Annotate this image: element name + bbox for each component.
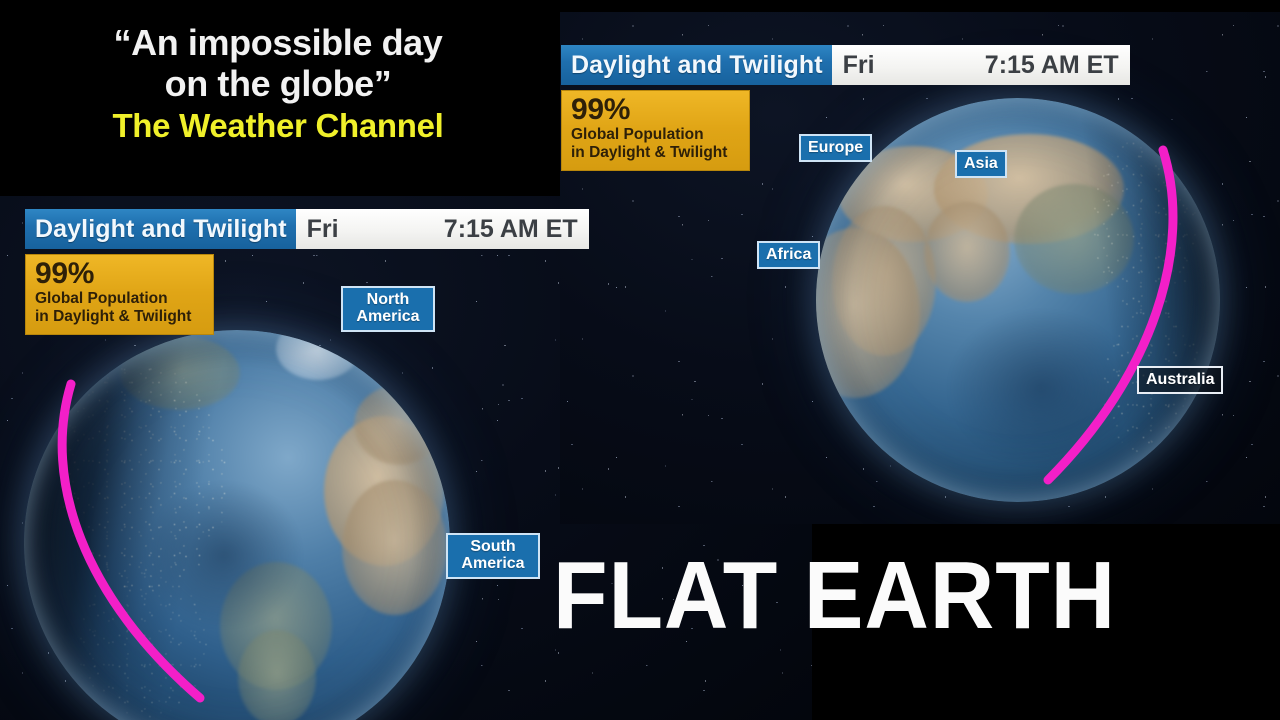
- banner-bottom-title: Daylight and Twilight: [25, 209, 296, 249]
- quote-line-1: “An impossible day: [0, 22, 556, 63]
- banner-top-day: Fri: [843, 51, 875, 80]
- globe-left: [24, 330, 450, 720]
- banner-top-stat-line2: in Daylight & Twilight: [571, 144, 741, 163]
- map-label-australia[interactable]: Australia: [1137, 366, 1223, 394]
- banner-bottom-timebox: Fri 7:15 AM ET: [296, 209, 589, 249]
- screenshot-frame: North America South America Europe Asia …: [0, 0, 1280, 720]
- banner-bottom-bar: Daylight and Twilight Fri 7:15 AM ET: [25, 209, 589, 249]
- weather-banner-bottom: Daylight and Twilight Fri 7:15 AM ET 99%…: [25, 209, 589, 335]
- banner-bottom-stat-line2: in Daylight & Twilight: [35, 308, 205, 327]
- quote-line-2: on the globe”: [0, 63, 556, 104]
- banner-top-title: Daylight and Twilight: [561, 45, 832, 85]
- banner-bottom-day: Fri: [307, 215, 339, 244]
- quote-block: “An impossible day on the globe” The Wea…: [0, 22, 556, 146]
- headline-flat-earth: FLAT EARTH: [553, 548, 1116, 644]
- quote-source: The Weather Channel: [0, 106, 556, 146]
- banner-top-stat-value: 99%: [571, 95, 741, 126]
- banner-top-stat-line1: Global Population: [571, 126, 741, 145]
- banner-bottom-stat-box: 99% Global Population in Daylight & Twil…: [25, 254, 214, 335]
- banner-bottom-time: 7:15 AM ET: [444, 215, 578, 244]
- banner-top-timebox: Fri 7:15 AM ET: [832, 45, 1130, 85]
- banner-top-bar: Daylight and Twilight Fri 7:15 AM ET: [561, 45, 1130, 85]
- globe-left-surface: [24, 330, 450, 720]
- weather-banner-top: Daylight and Twilight Fri 7:15 AM ET 99%…: [561, 45, 1130, 171]
- banner-top-stat-box: 99% Global Population in Daylight & Twil…: [561, 90, 750, 171]
- banner-top-time: 7:15 AM ET: [985, 51, 1119, 80]
- map-label-south-america[interactable]: South America: [446, 533, 540, 579]
- banner-bottom-stat-line1: Global Population: [35, 290, 205, 309]
- map-label-africa[interactable]: Africa: [757, 241, 820, 269]
- banner-bottom-stat-value: 99%: [35, 259, 205, 290]
- globe-left-atmosphere-rim: [24, 330, 450, 720]
